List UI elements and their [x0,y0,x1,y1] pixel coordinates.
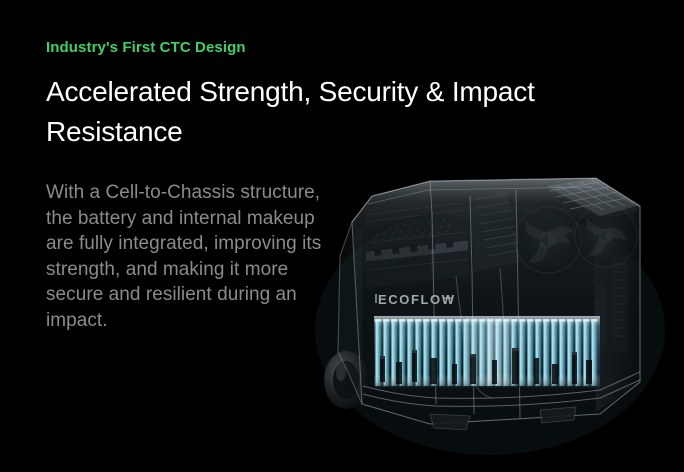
top-vent-grid [546,178,640,216]
chassis-outline [352,178,640,424]
eyebrow-label: Industry's First CTC Design [46,38,346,58]
internal-fin-stack [470,190,520,272]
promo-banner: ECOFLOW Industry's First CTC Design Acce… [0,0,684,472]
side-port-icon [324,351,368,409]
chassis-top-shell [352,178,640,232]
internal-heatsink [360,196,470,288]
base-feet [430,407,576,430]
page-title: Accelerated Strength, Security & Impact … [46,72,646,152]
ecoflow-brand-logo: ECOFLOW [376,292,456,307]
internal-connectors [380,348,592,384]
internal-fans [515,190,637,300]
brand-label: ECOFLOW [378,292,456,307]
body-paragraph: With a Cell-to-Chassis structure, the ba… [46,180,332,333]
chassis-body [352,178,640,424]
text-column: Industry's First CTC Design Accelerated … [46,38,346,352]
internal-pcb [596,256,628,352]
battery-cell-array [374,314,600,388]
